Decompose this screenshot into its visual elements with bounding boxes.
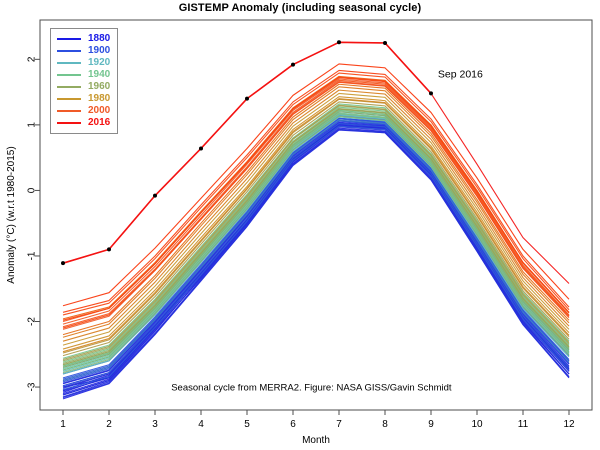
y-tick-label: 2 — [26, 56, 37, 62]
legend-item[interactable]: 1920 — [51, 57, 117, 69]
data-point-marker — [199, 146, 203, 150]
data-point-marker — [61, 261, 65, 265]
source-caption: Seasonal cycle from MERRA2. Figure: NASA… — [171, 382, 452, 393]
legend-item-label: 2016 — [88, 117, 110, 129]
x-tick-label: 10 — [471, 419, 483, 430]
x-tick-label: 1 — [60, 419, 66, 430]
x-tick-label: 6 — [290, 419, 296, 430]
legend-swatch-line-icon — [57, 74, 81, 76]
legend-swatch-line-icon — [57, 50, 81, 52]
legend-swatch-line-icon — [57, 98, 81, 100]
x-tick-label: 7 — [336, 419, 342, 430]
data-point-marker — [245, 97, 249, 101]
legend-swatch-line-icon — [57, 86, 81, 88]
data-point-marker — [107, 247, 111, 251]
y-tick-label: -2 — [26, 317, 37, 326]
legend-item[interactable]: 1880 — [51, 33, 117, 45]
y-tick-label: -3 — [26, 382, 37, 391]
chart-root: GISTEMP Anomaly (including seasonal cycl… — [0, 0, 600, 450]
series-line — [63, 78, 569, 321]
x-tick-label: 8 — [382, 419, 388, 430]
legend-swatch-line-icon — [57, 110, 81, 112]
x-tick-label: 4 — [198, 419, 204, 430]
data-point-marker — [337, 40, 341, 44]
highlight-line-2016 — [63, 42, 431, 263]
data-point-marker — [429, 91, 433, 95]
legend-item[interactable]: 1900 — [51, 45, 117, 57]
x-tick-label: 12 — [563, 419, 575, 430]
legend-item-label: 2000 — [88, 105, 110, 117]
legend-item-label: 1940 — [88, 69, 110, 81]
x-tick-label: 11 — [518, 419, 529, 430]
legend: 18801900192019401960198020002016 — [50, 28, 118, 134]
data-point-marker — [383, 41, 387, 45]
data-point-marker — [153, 194, 157, 198]
x-tick-label: 3 — [152, 419, 158, 430]
x-tick-label: 5 — [244, 419, 250, 430]
legend-swatch-line-icon — [57, 38, 81, 40]
series-lines-layer — [63, 42, 569, 399]
legend-item-label: 1980 — [88, 93, 110, 105]
legend-item-label: 1900 — [88, 45, 110, 57]
legend-item-label: 1920 — [88, 57, 110, 69]
legend-item[interactable]: 1960 — [51, 81, 117, 93]
legend-item[interactable]: 2000 — [51, 105, 117, 117]
y-tick-label: 1 — [26, 122, 37, 128]
y-tick-label: -1 — [26, 251, 37, 260]
data-point-marker — [291, 63, 295, 67]
legend-swatch-line-icon — [57, 62, 81, 64]
y-axis-label: Anomaly (°C) (w.r.t 1980-2015) — [6, 146, 17, 283]
x-tick-label: 2 — [106, 419, 112, 430]
legend-swatch-line-icon — [57, 122, 81, 124]
annotation-sep-2016: Sep 2016 — [438, 69, 483, 81]
x-axis-label: Month — [302, 435, 330, 446]
legend-item[interactable]: 1940 — [51, 69, 117, 81]
legend-item-label: 1960 — [88, 81, 110, 93]
y-tick-label: 0 — [26, 187, 37, 193]
legend-item-label: 1880 — [88, 33, 110, 45]
x-tick-label: 9 — [428, 419, 434, 430]
legend-item[interactable]: 1980 — [51, 93, 117, 105]
legend-item[interactable]: 2016 — [51, 117, 117, 129]
